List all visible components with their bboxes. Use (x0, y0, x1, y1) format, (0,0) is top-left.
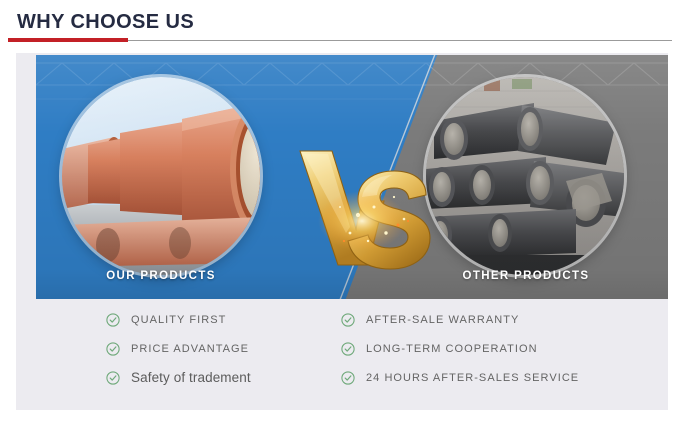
feature-column-right: AFTER-SALE WARRANTY LONG-TERM COOPERATIO… (341, 305, 579, 392)
other-products-label: OTHER PRODUCTS (396, 270, 656, 282)
list-item: 24 HOURS AFTER-SALES SERVICE (341, 363, 579, 392)
check-circle-icon (106, 371, 120, 385)
list-item: PRICE ADVANTAGE (106, 334, 251, 363)
feature-list: QUALITY FIRST PRICE ADVANTAGE Safety of … (16, 305, 668, 410)
list-item-label: 24 HOURS AFTER-SALES SERVICE (366, 372, 579, 384)
check-circle-icon (106, 342, 120, 356)
list-item-label: Safety of tradement (131, 370, 251, 385)
list-item-label: LONG-TERM COOPERATION (366, 343, 538, 355)
header-accent-underline (8, 38, 128, 42)
list-item-label: AFTER-SALE WARRANTY (366, 314, 519, 326)
list-item-label: QUALITY FIRST (131, 314, 226, 326)
list-item: LONG-TERM COOPERATION (341, 334, 579, 363)
list-item: QUALITY FIRST (106, 305, 251, 334)
check-circle-icon (341, 342, 355, 356)
check-circle-icon (341, 371, 355, 385)
section-header: WHY CHOOSE US (0, 0, 680, 53)
page-title: WHY CHOOSE US (17, 11, 194, 34)
other-products-photo (426, 77, 624, 275)
list-item-label: PRICE ADVANTAGE (131, 343, 249, 355)
list-item: AFTER-SALE WARRANTY (341, 305, 579, 334)
our-products-label: OUR PRODUCTS (36, 270, 291, 282)
list-item: Safety of tradement (106, 363, 251, 392)
feature-column-left: QUALITY FIRST PRICE ADVANTAGE Safety of … (106, 305, 251, 392)
check-circle-icon (106, 313, 120, 327)
comparison-card: OUR PRODUCTS OTHER PRODUCTS QUALITY FIRS… (16, 53, 668, 410)
comparison-banner: OUR PRODUCTS OTHER PRODUCTS (36, 55, 668, 299)
our-products-photo (62, 77, 260, 275)
why-choose-us-section: WHY CHOOSE US (0, 0, 680, 425)
check-circle-icon (341, 313, 355, 327)
